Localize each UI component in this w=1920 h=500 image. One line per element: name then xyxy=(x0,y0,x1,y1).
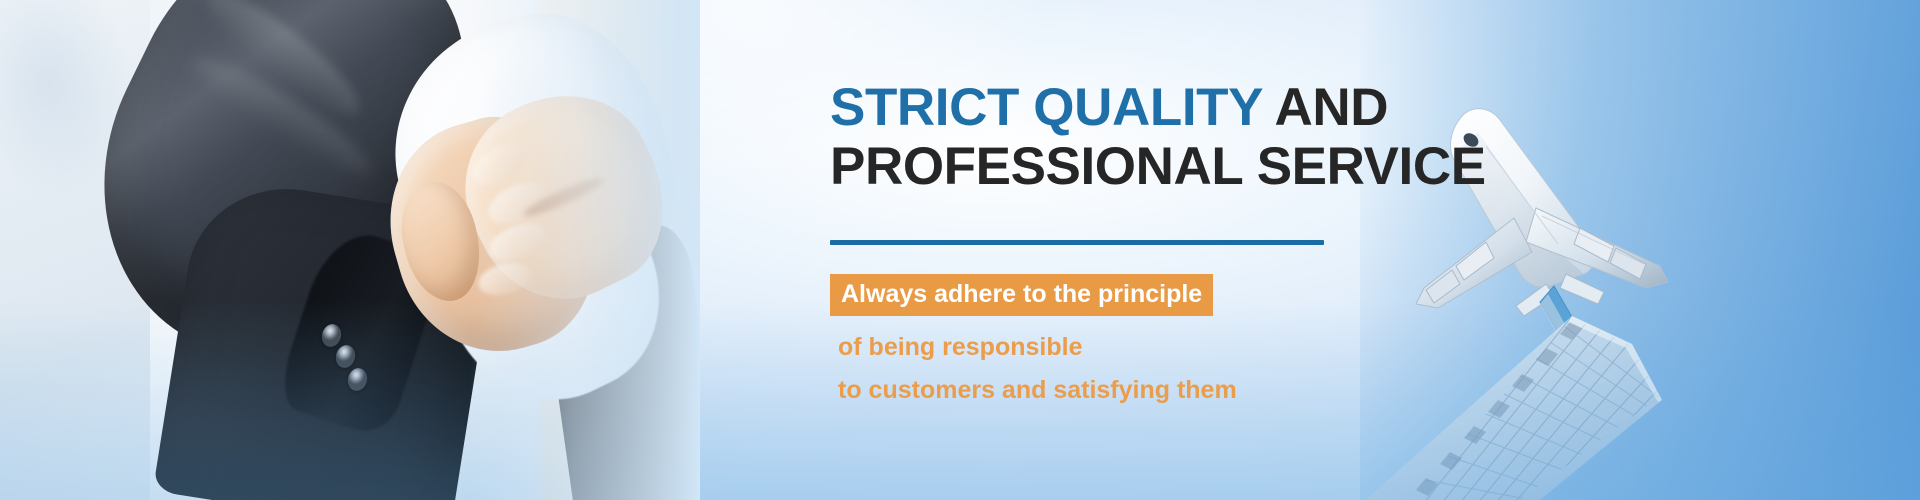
headline-highlight: STRICT QUALITY xyxy=(830,78,1262,137)
headline-line-2: PROFESSIONAL SERVICE xyxy=(830,137,1486,196)
headline-line1-rest: AND xyxy=(1262,78,1388,137)
tagline-line-2: of being responsible xyxy=(830,329,1082,365)
banner-content: STRICT QUALITY AND PROFESSIONAL SERVICE … xyxy=(830,0,1530,500)
tagline-row-1: Always adhere to the principle xyxy=(830,274,1470,322)
tagline-row-3: to customers and satisfying them xyxy=(830,372,1470,408)
photo-fade-to-sky xyxy=(470,0,700,500)
tagline-line-3: to customers and satisfying them xyxy=(830,372,1237,408)
banner-tagline: Always adhere to the principle of being … xyxy=(830,274,1470,408)
headline-line-1: STRICT QUALITY AND xyxy=(830,78,1388,137)
tagline-line-1: Always adhere to the principle xyxy=(830,274,1213,316)
handshake-photo xyxy=(0,0,700,500)
promo-banner: STRICT QUALITY AND PROFESSIONAL SERVICE … xyxy=(0,0,1920,500)
banner-headline: STRICT QUALITY AND PROFESSIONAL SERVICE xyxy=(830,78,1470,196)
tagline-row-2: of being responsible xyxy=(830,329,1470,365)
headline-divider xyxy=(830,240,1324,245)
